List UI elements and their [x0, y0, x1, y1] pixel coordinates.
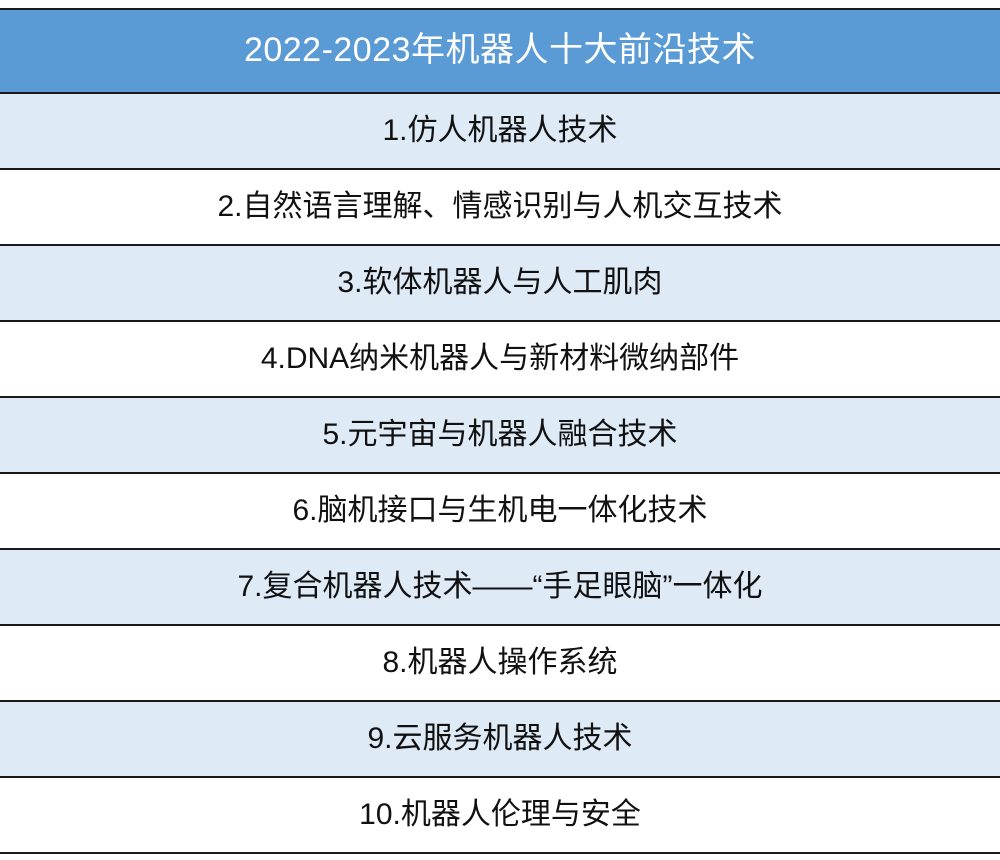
table-row[interactable]: 3.软体机器人与人工肌肉 — [0, 245, 1000, 321]
table-cell-item-6[interactable]: 6.脑机接口与生机电一体化技术 — [0, 473, 1000, 549]
table-row[interactable]: 2.自然语言理解、情感识别与人机交互技术 — [0, 169, 1000, 245]
table-cell-item-3[interactable]: 3.软体机器人与人工肌肉 — [0, 245, 1000, 321]
table-row[interactable]: 9.云服务机器人技术 — [0, 701, 1000, 777]
table-header-row: 2022-2023年机器人十大前沿技术 — [0, 9, 1000, 93]
table-cell-item-7[interactable]: 7.复合机器人技术——“手足眼脑”一体化 — [0, 549, 1000, 625]
table-row[interactable]: 10.机器人伦理与安全 — [0, 777, 1000, 853]
list-item-label: 1.仿人机器人技术 — [0, 114, 1000, 149]
page-title: 2022-2023年机器人十大前沿技术 — [0, 31, 1000, 70]
table-cell-item-10[interactable]: 10.机器人伦理与安全 — [0, 777, 1000, 853]
table-row[interactable]: 5.元宇宙与机器人融合技术 — [0, 397, 1000, 473]
list-item-label: 7.复合机器人技术——“手足眼脑”一体化 — [0, 570, 1000, 605]
table-cell-item-8[interactable]: 8.机器人操作系统 — [0, 625, 1000, 701]
list-item-label: 9.云服务机器人技术 — [0, 722, 1000, 757]
list-item-label: 2.自然语言理解、情感识别与人机交互技术 — [0, 190, 1000, 225]
list-item-label: 3.软体机器人与人工肌肉 — [0, 266, 1000, 301]
table-row[interactable]: 4.DNA纳米机器人与新材料微纳部件 — [0, 321, 1000, 397]
table-row[interactable]: 1.仿人机器人技术 — [0, 93, 1000, 169]
list-item-label: 6.脑机接口与生机电一体化技术 — [0, 494, 1000, 529]
list-item-label: 4.DNA纳米机器人与新材料微纳部件 — [0, 342, 1000, 377]
table-cell-item-1[interactable]: 1.仿人机器人技术 — [0, 93, 1000, 169]
table-row[interactable]: 8.机器人操作系统 — [0, 625, 1000, 701]
table-cell-item-4[interactable]: 4.DNA纳米机器人与新材料微纳部件 — [0, 321, 1000, 397]
table-cell-item-9[interactable]: 9.云服务机器人技术 — [0, 701, 1000, 777]
list-item-label: 10.机器人伦理与安全 — [0, 798, 1000, 833]
table-cell-item-5[interactable]: 5.元宇宙与机器人融合技术 — [0, 397, 1000, 473]
list-item-label: 8.机器人操作系统 — [0, 646, 1000, 681]
table-title-cell: 2022-2023年机器人十大前沿技术 — [0, 9, 1000, 93]
top-technologies-table: 2022-2023年机器人十大前沿技术 1.仿人机器人技术 2.自然语言理解、情… — [0, 8, 1000, 854]
table-container: 2022-2023年机器人十大前沿技术 1.仿人机器人技术 2.自然语言理解、情… — [0, 0, 1000, 860]
table-row[interactable]: 6.脑机接口与生机电一体化技术 — [0, 473, 1000, 549]
table-cell-item-2[interactable]: 2.自然语言理解、情感识别与人机交互技术 — [0, 169, 1000, 245]
table-row[interactable]: 7.复合机器人技术——“手足眼脑”一体化 — [0, 549, 1000, 625]
list-item-label: 5.元宇宙与机器人融合技术 — [0, 418, 1000, 453]
